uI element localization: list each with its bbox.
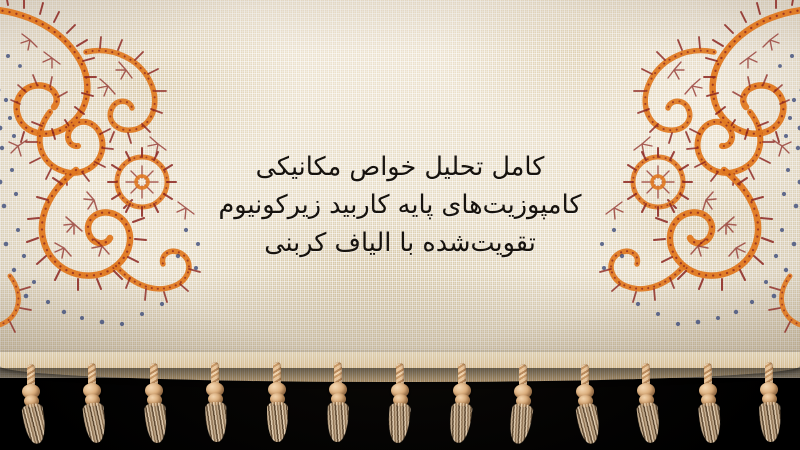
tassel-skirt (759, 402, 782, 443)
tassel-skirt (636, 402, 661, 444)
tassel-skirt (82, 402, 107, 444)
tassel (323, 362, 353, 450)
tassel-skirt (387, 402, 411, 443)
slide-title: کامل تحلیل خواص مکانیکی کامپوزیت‌های پای… (0, 148, 800, 262)
tassel-skirt (267, 402, 288, 442)
tassel (262, 362, 292, 450)
tassel (77, 363, 107, 450)
tassel (385, 363, 415, 450)
title-line-1: کامل تحلیل خواص مکانیکی (0, 148, 800, 186)
tassel (200, 362, 230, 450)
tassel (754, 362, 784, 450)
tassel (447, 363, 477, 450)
tassel (16, 364, 46, 450)
tassel-fringe (0, 362, 800, 450)
tassel (631, 363, 661, 450)
tassel (693, 363, 723, 450)
title-line-2: کامپوزیت‌های پایه کاربید زیرکونیوم (0, 186, 800, 224)
tassel (570, 364, 600, 450)
title-line-3: تقویت‌شده با الیاف کربنی (0, 224, 800, 262)
tassel-skirt (21, 402, 48, 445)
tassel-skirt (507, 402, 534, 445)
tassel (508, 364, 538, 450)
tassel-skirt (698, 402, 722, 443)
tassel-skirt (327, 402, 350, 443)
tassel-skirt (144, 402, 168, 443)
tassel-skirt (575, 402, 602, 445)
tassel (139, 363, 169, 450)
tassel-skirt (447, 402, 472, 444)
tassel-skirt (205, 402, 228, 443)
slide-canvas: کامل تحلیل خواص مکانیکی کامپوزیت‌های پای… (0, 0, 800, 450)
